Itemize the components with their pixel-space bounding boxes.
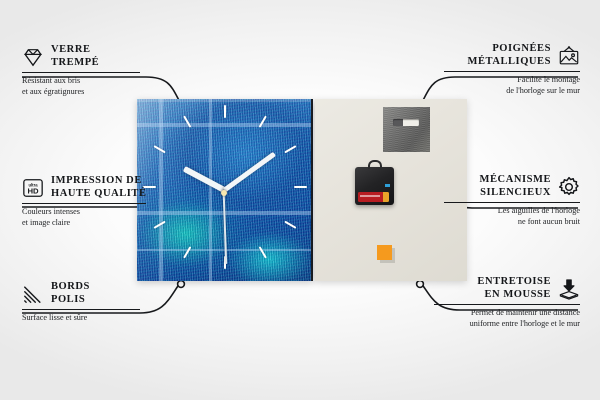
diamond-icon [22, 46, 44, 68]
product-image [137, 99, 467, 281]
feature-impression-haute-qualite[interactable]: ultra HD IMPRESSION DE HAUTE QUALITÉ Cou… [22, 175, 174, 228]
feature-title: POIGNÉES MÉTALLIQUES [468, 43, 551, 68]
feature-divider [22, 203, 146, 204]
foam-spacer-arrow-icon [558, 278, 580, 300]
feature-description: Permet de maintenir une distance uniform… [420, 308, 580, 328]
feature-title: VERRE TREMPÉ [51, 44, 99, 69]
picture-frame-hanger-icon [558, 45, 580, 67]
feature-verre-trempe[interactable]: VERRE TREMPÉ Résistant aux bris et aux é… [22, 44, 162, 97]
movement-hanging-loop [368, 160, 382, 169]
feature-description: Facilite le montage de l'horloge sur le … [428, 75, 580, 95]
feature-header: POIGNÉES MÉTALLIQUES [428, 43, 580, 68]
gear-icon [558, 176, 580, 198]
feature-title: BORDS POLIS [51, 281, 90, 306]
feature-description: Les aiguilles de l'horloge ne font aucun… [428, 206, 580, 226]
feature-mecanisme-silencieux[interactable]: MÉCANISME SILENCIEUX Les aiguilles de l'… [428, 174, 580, 227]
infographic-stage: VERRE TREMPÉ Résistant aux bris et aux é… [0, 0, 600, 400]
feature-divider [444, 71, 580, 72]
clock-movement [355, 167, 394, 205]
feature-divider [444, 202, 580, 203]
feature-description: Couleurs intenses et image claire [22, 207, 174, 227]
metal-hanger-plate [383, 107, 430, 152]
feature-title: IMPRESSION DE HAUTE QUALITÉ [51, 175, 147, 200]
feature-header: ultra HD IMPRESSION DE HAUTE QUALITÉ [22, 175, 174, 200]
feature-title: MÉCANISME SILENCIEUX [480, 174, 551, 199]
feature-entretoise-en-mousse[interactable]: ENTRETOISE EN MOUSSE Permet de maintenir… [420, 276, 580, 329]
svg-text:HD: HD [27, 186, 39, 195]
feature-header: ENTRETOISE EN MOUSSE [420, 276, 580, 301]
hand-pivot [221, 190, 227, 196]
clock-tick [224, 105, 226, 118]
clock-tick [294, 186, 307, 188]
polished-edges-icon [22, 283, 44, 305]
feature-description: Surface lisse et sûre [22, 313, 162, 323]
feature-divider [22, 309, 140, 310]
feature-title: ENTRETOISE EN MOUSSE [477, 276, 551, 301]
feature-poignees-metalliques[interactable]: POIGNÉES MÉTALLIQUES Facilite le montage… [428, 43, 580, 96]
feature-header: VERRE TREMPÉ [22, 44, 162, 69]
feature-divider [434, 304, 580, 305]
feature-description: Résistant aux bris et aux égratignures [22, 76, 162, 96]
foam-spacer [377, 245, 392, 260]
hanger-slot [393, 119, 419, 126]
feature-header: BORDS POLIS [22, 281, 162, 306]
connector-dot-bords-polis [178, 281, 185, 288]
feature-divider [22, 72, 140, 73]
battery [358, 192, 389, 202]
ultra-hd-icon: ultra HD [22, 177, 44, 199]
movement-label [385, 184, 390, 187]
feature-bords-polis[interactable]: BORDS POLIS Surface lisse et sûre [22, 281, 162, 324]
feature-header: MÉCANISME SILENCIEUX [428, 174, 580, 199]
